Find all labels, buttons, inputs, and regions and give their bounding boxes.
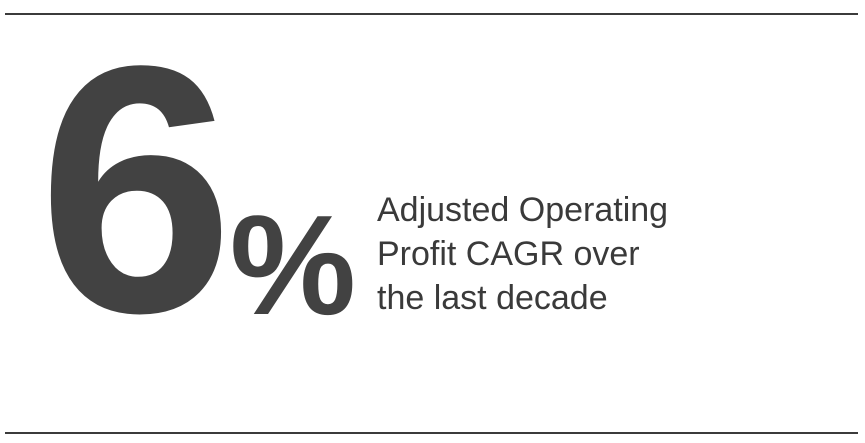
stat-description-line-3: the last decade [377, 276, 722, 320]
stat-callout-panel: 6 % Adjusted Operating Profit CAGR over … [0, 0, 865, 443]
stat-content-row: 6 % Adjusted Operating Profit CAGR over … [0, 0, 865, 443]
stat-figure-lockup: 6 % [38, 0, 354, 443]
stat-description-line-1: Adjusted Operating [377, 188, 722, 232]
stat-value: 6 [38, 61, 228, 318]
stat-unit-percent: % [230, 214, 354, 318]
bottom-divider-rule [5, 432, 858, 434]
stat-description-line-2: Profit CAGR over [377, 232, 722, 276]
stat-description: Adjusted Operating Profit CAGR over the … [377, 188, 722, 320]
